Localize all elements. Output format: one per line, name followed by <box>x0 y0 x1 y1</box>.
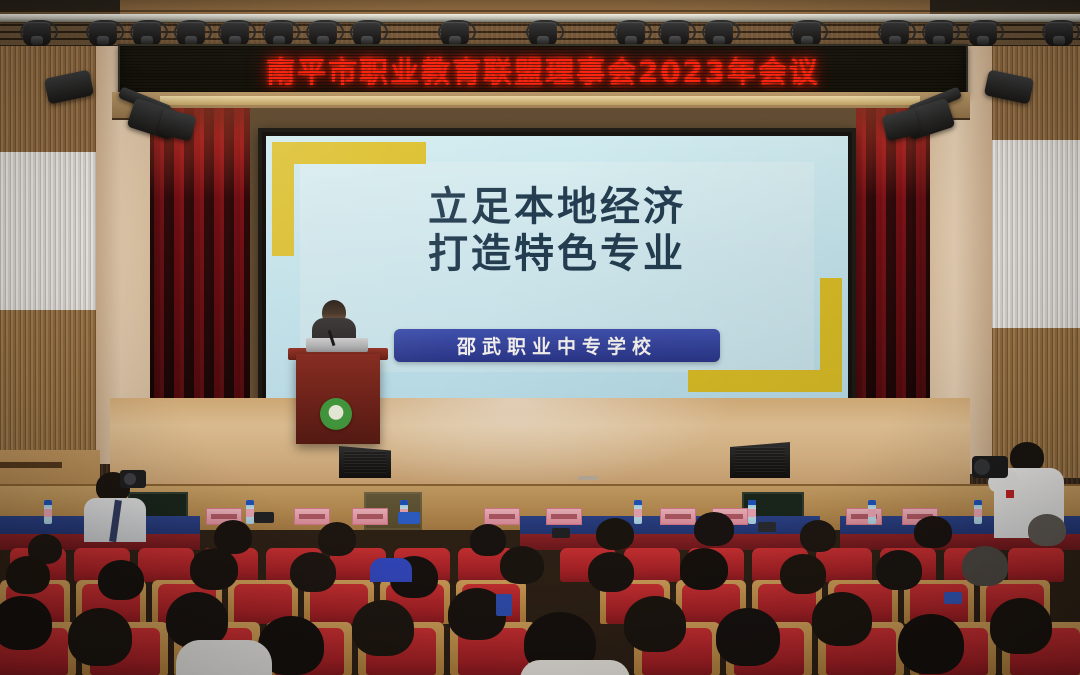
water-bottle <box>868 500 876 524</box>
name-card <box>660 508 696 525</box>
audience-head <box>680 548 728 590</box>
stage-light <box>20 18 54 48</box>
hoodie-logo <box>1006 490 1014 498</box>
audience-head-gray <box>962 546 1008 586</box>
name-card <box>484 508 520 525</box>
water-bottle <box>974 500 982 524</box>
school-emblem-icon <box>320 398 352 430</box>
raised-phone <box>758 522 776 532</box>
led-scanlines <box>120 46 966 94</box>
audience-head-gray <box>1028 514 1066 546</box>
camera-lens-icon <box>124 473 136 485</box>
stage-monitor-right <box>730 442 790 478</box>
left-stair-step-1 <box>0 462 62 468</box>
stage-monitor-left <box>339 446 391 478</box>
audience-head <box>876 550 922 590</box>
audience-head <box>800 520 836 552</box>
stage-light <box>86 18 120 48</box>
proscenium-light-strip <box>160 96 920 105</box>
audience-head <box>290 552 336 592</box>
led-banner: 南平市职业教育联盟理事会2023年会议 <box>118 44 968 96</box>
audience-head <box>694 512 734 546</box>
raised-phone <box>552 528 570 538</box>
raised-phone <box>496 594 512 616</box>
name-card <box>846 508 882 525</box>
camera-lens-icon <box>974 459 990 475</box>
audience-head <box>68 608 132 666</box>
audience-shoulders-white <box>176 640 272 675</box>
stage-light <box>966 18 1000 48</box>
water-bottle <box>634 500 642 524</box>
raised-phone <box>398 512 420 524</box>
audience-shoulders-blue <box>370 558 412 582</box>
audience-head <box>6 556 50 594</box>
audience-head <box>318 522 356 556</box>
audience-head <box>898 614 964 674</box>
stage-light <box>1042 18 1076 48</box>
audience-head <box>780 554 826 594</box>
audience-head <box>470 524 506 556</box>
right-acoustic-panel <box>992 140 1080 330</box>
name-card <box>546 508 582 525</box>
audience-head <box>0 596 52 650</box>
name-card <box>352 508 388 525</box>
audience-head <box>352 600 414 656</box>
raised-phone <box>254 512 274 523</box>
audience-head <box>716 608 780 666</box>
audience-head <box>190 548 238 590</box>
water-bottle <box>748 500 756 524</box>
audience-head <box>990 598 1052 654</box>
water-bottle <box>246 500 254 524</box>
auditorium-photo: 南平市职业教育联盟理事会2023年会议 立足本地经济 打造特色专业 邵武职业中专… <box>0 0 1080 675</box>
audience-head <box>596 518 634 550</box>
audience-head <box>914 516 952 548</box>
stage-cable <box>578 476 598 480</box>
name-card <box>294 508 330 525</box>
raised-phone <box>944 592 962 604</box>
left-acoustic-panel <box>0 152 96 312</box>
photographer-left <box>78 470 152 540</box>
audience-shoulders-white-2 <box>520 660 630 675</box>
left-wood-panel-lower <box>0 310 96 450</box>
audience-head <box>500 546 544 584</box>
audience-head <box>812 592 872 646</box>
audience-head <box>588 552 634 592</box>
audience-head <box>624 596 686 652</box>
podium-laptop <box>306 338 368 352</box>
water-bottle <box>44 500 52 524</box>
audience-head <box>98 560 144 600</box>
